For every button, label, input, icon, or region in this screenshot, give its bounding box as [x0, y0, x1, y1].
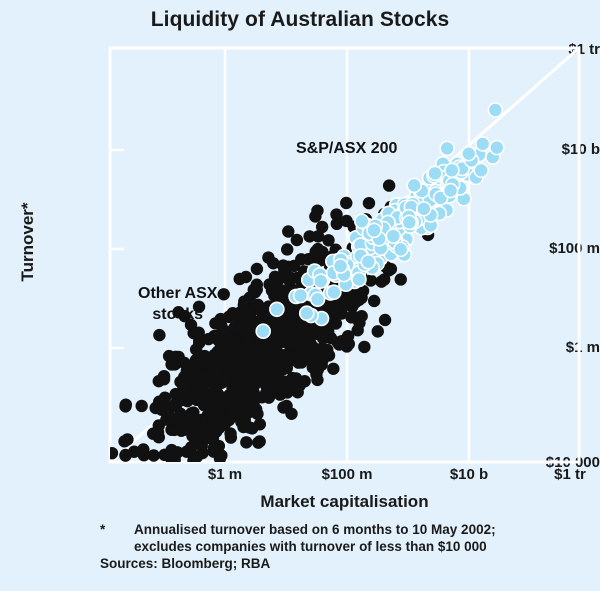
scatter-point	[311, 204, 323, 216]
scatter-point	[235, 359, 247, 371]
scatter-point	[302, 346, 314, 358]
footnote-sources: Sources: Bloomberg; RBA	[100, 555, 590, 572]
scatter-point	[106, 447, 118, 459]
scatter-point	[247, 344, 259, 356]
scatter-point	[251, 391, 263, 403]
scatter-point	[284, 315, 296, 327]
scatter-point	[294, 289, 308, 303]
scatter-point	[190, 354, 202, 366]
scatter-point	[255, 375, 267, 387]
footnote-line-1: * Annualised turnover based on 6 months …	[100, 521, 590, 538]
scatter-point	[225, 431, 237, 443]
scatter-point	[303, 230, 315, 242]
scatter-point	[394, 242, 408, 256]
scatter-point	[474, 163, 488, 177]
footnote-text-1: Annualised turnover based on 6 months to…	[134, 521, 590, 538]
scatter-point	[251, 263, 263, 275]
scatter-point	[386, 229, 400, 243]
scatter-point	[165, 358, 177, 370]
scatter-point	[277, 401, 289, 413]
scatter-point	[379, 314, 391, 326]
scatter-point	[220, 373, 232, 385]
scatter-point	[333, 338, 345, 350]
scatter-point	[327, 363, 339, 375]
scatter-point	[383, 179, 395, 191]
y-tick-marks	[110, 150, 124, 348]
footnote-line-2: excludes companies with turnover of less…	[100, 538, 590, 555]
scatter-point	[314, 274, 328, 288]
scatter-point	[252, 436, 264, 448]
scatter-point	[444, 184, 458, 198]
scatter-point	[218, 288, 230, 300]
scatter-point	[210, 364, 222, 376]
scatter-point	[194, 392, 206, 404]
scatter-point	[158, 449, 170, 461]
scatter-point	[260, 357, 272, 369]
footnote-text-2: excludes companies with turnover of less…	[134, 538, 590, 555]
scatter-point	[445, 163, 459, 177]
scatter-point	[462, 147, 476, 161]
scatter-point	[235, 347, 247, 359]
scatter-point	[367, 223, 381, 237]
scatter-point	[300, 306, 314, 320]
scatter-point	[286, 372, 298, 384]
scatter-point	[372, 325, 384, 337]
annotation-asx200: S&P/ASX 200	[296, 140, 397, 158]
scatter-point	[378, 273, 390, 285]
scatter-point	[417, 202, 431, 216]
scatter-point	[262, 251, 274, 263]
scatter-point	[175, 425, 187, 437]
scatter-point	[254, 418, 266, 430]
scatter-point	[274, 290, 286, 302]
scatter-point	[212, 329, 224, 341]
scatter-point	[263, 278, 275, 290]
scatter-point	[196, 447, 208, 459]
scatter-point	[395, 273, 407, 285]
scatter-point	[440, 141, 454, 155]
scatter-point	[240, 271, 252, 283]
scatter-point	[207, 432, 219, 444]
scatter-point	[256, 324, 270, 338]
scatter-point	[158, 370, 170, 382]
scatter-point	[148, 449, 160, 461]
scatter-point	[299, 375, 311, 387]
scatter-point	[227, 307, 239, 319]
scatter-point	[270, 302, 284, 316]
scatter-point	[352, 272, 366, 286]
scatter-point	[340, 197, 352, 209]
scatter-point	[363, 197, 375, 209]
scatter-point	[476, 137, 490, 151]
chart-container: Liquidity of Australian Stocks Turnover*…	[0, 0, 600, 591]
scatter-point	[234, 387, 246, 399]
scatter-point	[178, 392, 190, 404]
scatter-point	[236, 318, 248, 330]
scatter-point	[316, 329, 328, 341]
scatter-point	[119, 400, 131, 412]
footnote-marker: *	[100, 521, 134, 538]
scatter-point	[291, 234, 303, 246]
scatter-point	[402, 215, 416, 229]
scatter-point	[311, 292, 325, 306]
scatter-plot-svg	[0, 0, 600, 591]
scatter-point	[240, 436, 252, 448]
scatter-point	[193, 334, 205, 346]
scatter-point	[177, 381, 189, 393]
scatter-point	[330, 208, 342, 220]
scatter-point	[368, 295, 380, 307]
scatter-point	[358, 341, 370, 353]
scatter-point	[190, 433, 202, 445]
scatter-point	[361, 255, 375, 269]
annotation-other-asx-line2: stocks	[138, 304, 217, 325]
scatter-point	[208, 399, 220, 411]
scatter-point	[231, 376, 243, 388]
scatter-point	[251, 408, 263, 420]
annotation-other-asx: Other ASX stocks	[138, 283, 217, 325]
scatter-point	[428, 166, 442, 180]
scatter-point	[211, 346, 223, 358]
scatter-point	[276, 364, 288, 376]
scatter-point	[153, 329, 165, 341]
scatter-point	[121, 433, 133, 445]
scatter-point	[334, 259, 348, 273]
scatter-point	[220, 392, 232, 404]
scatter-point	[119, 449, 131, 461]
scatter-point	[330, 317, 342, 329]
scatter-point	[281, 243, 293, 255]
scatter-point	[135, 400, 147, 412]
scatter-point	[147, 427, 159, 439]
scatter-point	[278, 349, 290, 361]
scatter-point	[316, 221, 328, 233]
footnote-spacer	[100, 538, 134, 555]
scatter-point	[218, 419, 230, 431]
scatter-point	[407, 178, 421, 192]
annotation-other-asx-line1: Other ASX	[138, 283, 217, 304]
scatter-point	[156, 404, 168, 416]
footnote-block: * Annualised turnover based on 6 months …	[100, 521, 590, 572]
scatter-point	[239, 414, 251, 426]
scatter-point	[490, 141, 504, 155]
scatter-point	[159, 392, 171, 404]
scatter-point	[488, 103, 502, 117]
scatter-point	[353, 317, 365, 329]
